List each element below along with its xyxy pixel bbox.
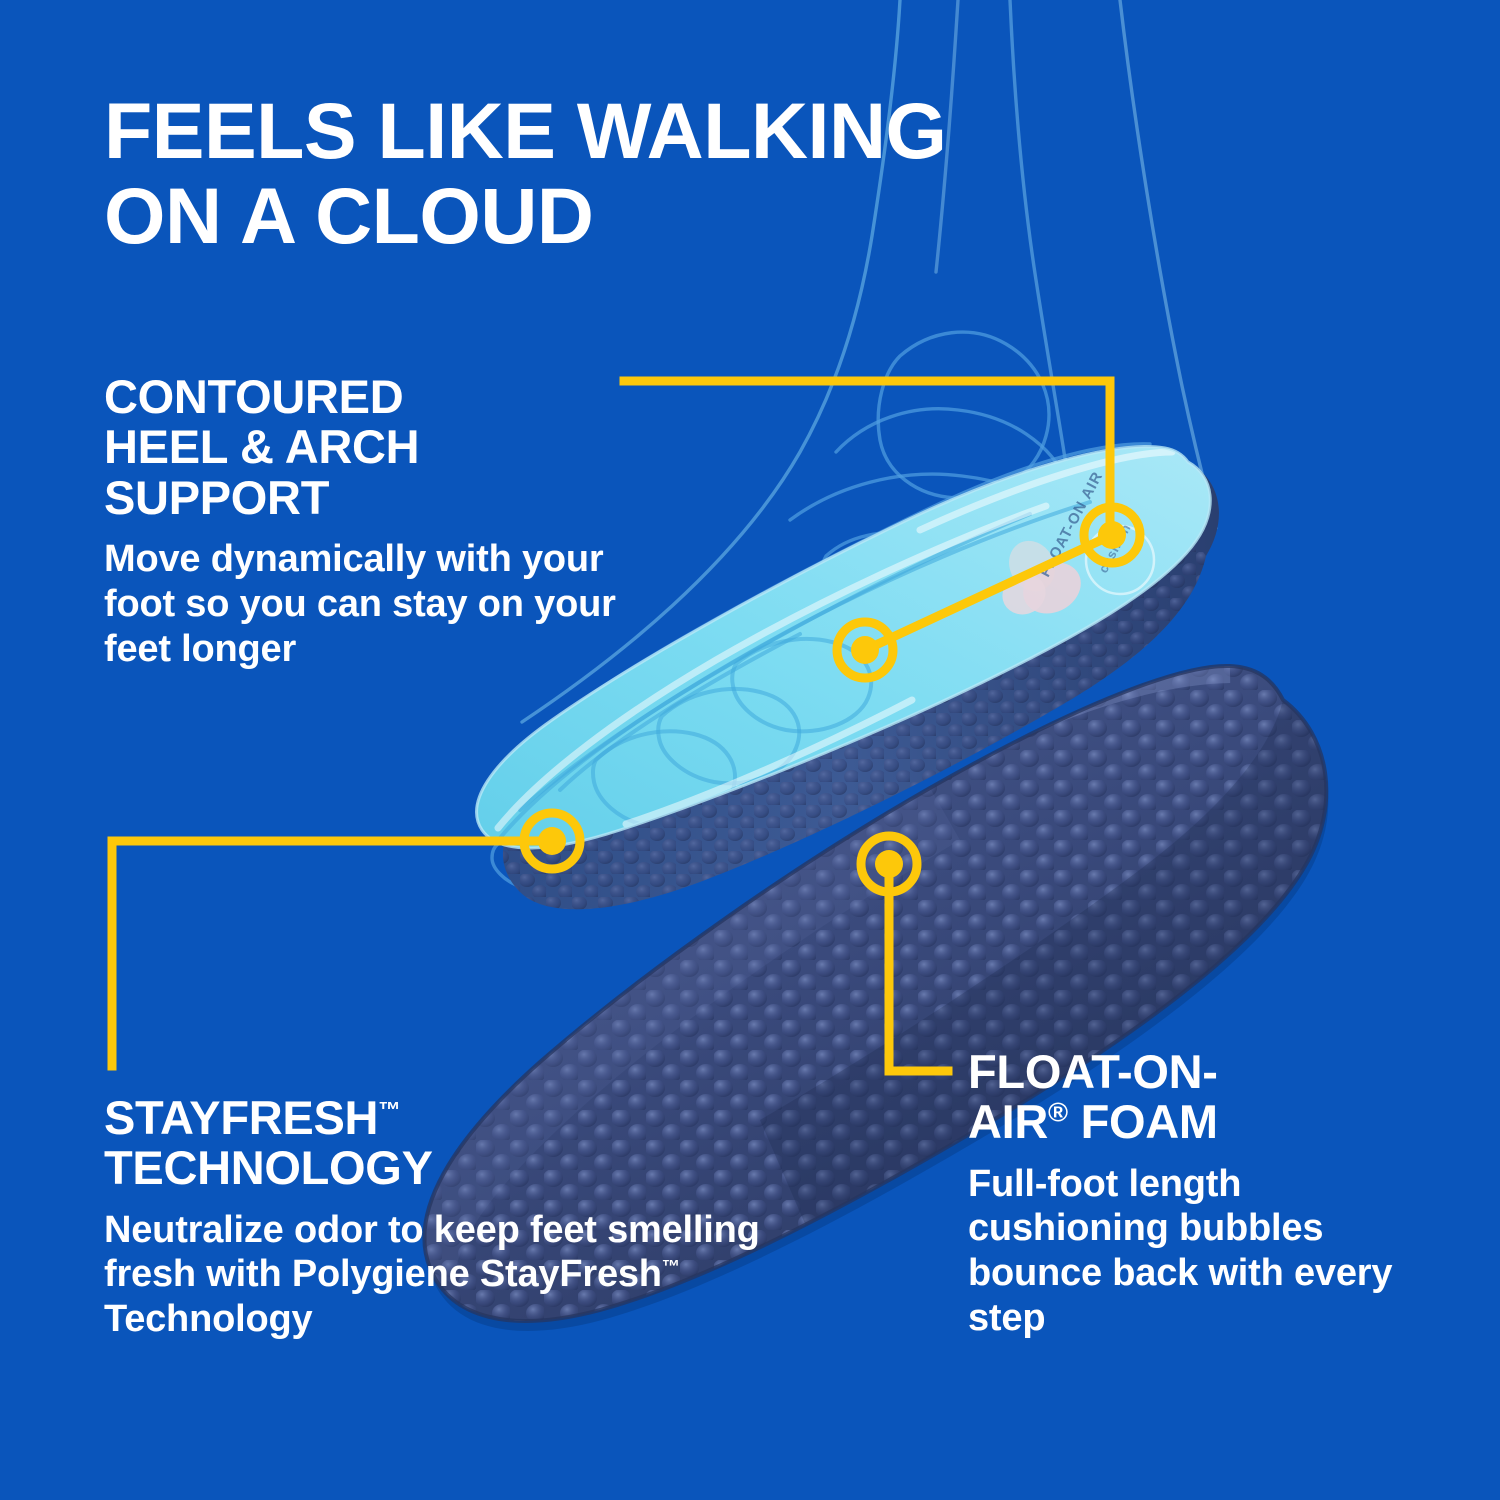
- feature-float-on-air-heading-line-2: AIR® FOAM: [968, 1097, 1408, 1147]
- feature-contoured-body: Move dynamically with your foot so you c…: [104, 537, 634, 671]
- feature-contoured-heel-arch-support: CONTOURED HEEL & ARCH SUPPORT Move dynam…: [104, 372, 634, 671]
- feature-stayfresh-heading-word: STAYFRESH: [104, 1091, 378, 1144]
- headline-line-2: ON A CLOUD: [104, 173, 1404, 258]
- trademark-icon: ™: [378, 1097, 400, 1122]
- feature-stayfresh-heading-line-2: TECHNOLOGY: [104, 1143, 784, 1193]
- trademark-icon: ™: [662, 1256, 680, 1277]
- feature-stayfresh-body-part-2: Technology: [104, 1298, 312, 1340]
- headline: FEELS LIKE WALKING ON A CLOUD: [104, 88, 1404, 259]
- feature-float-on-air-heading-foam: FOAM: [1068, 1095, 1218, 1148]
- callout-line-stayfresh: [112, 841, 552, 1066]
- product-infographic: FLOAT-ON AIR cushion: [0, 0, 1500, 1500]
- feature-stayfresh-heading: STAYFRESH™ TECHNOLOGY: [104, 1093, 784, 1194]
- feature-contoured-heading-line-3: SUPPORT: [104, 473, 634, 523]
- feature-stayfresh-body: Neutralize odor to keep feet smelling fr…: [104, 1208, 784, 1342]
- headline-line-1: FEELS LIKE WALKING: [104, 88, 1404, 173]
- feature-float-on-air-heading-air: AIR: [968, 1095, 1048, 1148]
- feature-contoured-heading-line-1: CONTOURED: [104, 372, 634, 422]
- feature-float-on-air-heading: FLOAT-ON- AIR® FOAM: [968, 1047, 1408, 1148]
- feature-float-on-air-heading-line-1: FLOAT-ON-: [968, 1047, 1408, 1097]
- feature-stayfresh-heading-line-1: STAYFRESH™: [104, 1093, 784, 1143]
- feature-float-on-air-body: Full-foot length cushioning bubbles boun…: [968, 1162, 1408, 1341]
- feature-contoured-heading: CONTOURED HEEL & ARCH SUPPORT: [104, 372, 634, 523]
- feature-float-on-air-foam: FLOAT-ON- AIR® FOAM Full-foot length cus…: [968, 1047, 1408, 1341]
- feature-stayfresh-technology: STAYFRESH™ TECHNOLOGY Neutralize odor to…: [104, 1093, 784, 1342]
- registered-trademark-icon: ®: [1048, 1097, 1068, 1128]
- feature-contoured-heading-line-2: HEEL & ARCH: [104, 422, 634, 472]
- feature-stayfresh-body-part-1: Neutralize odor to keep feet smelling fr…: [104, 1209, 760, 1296]
